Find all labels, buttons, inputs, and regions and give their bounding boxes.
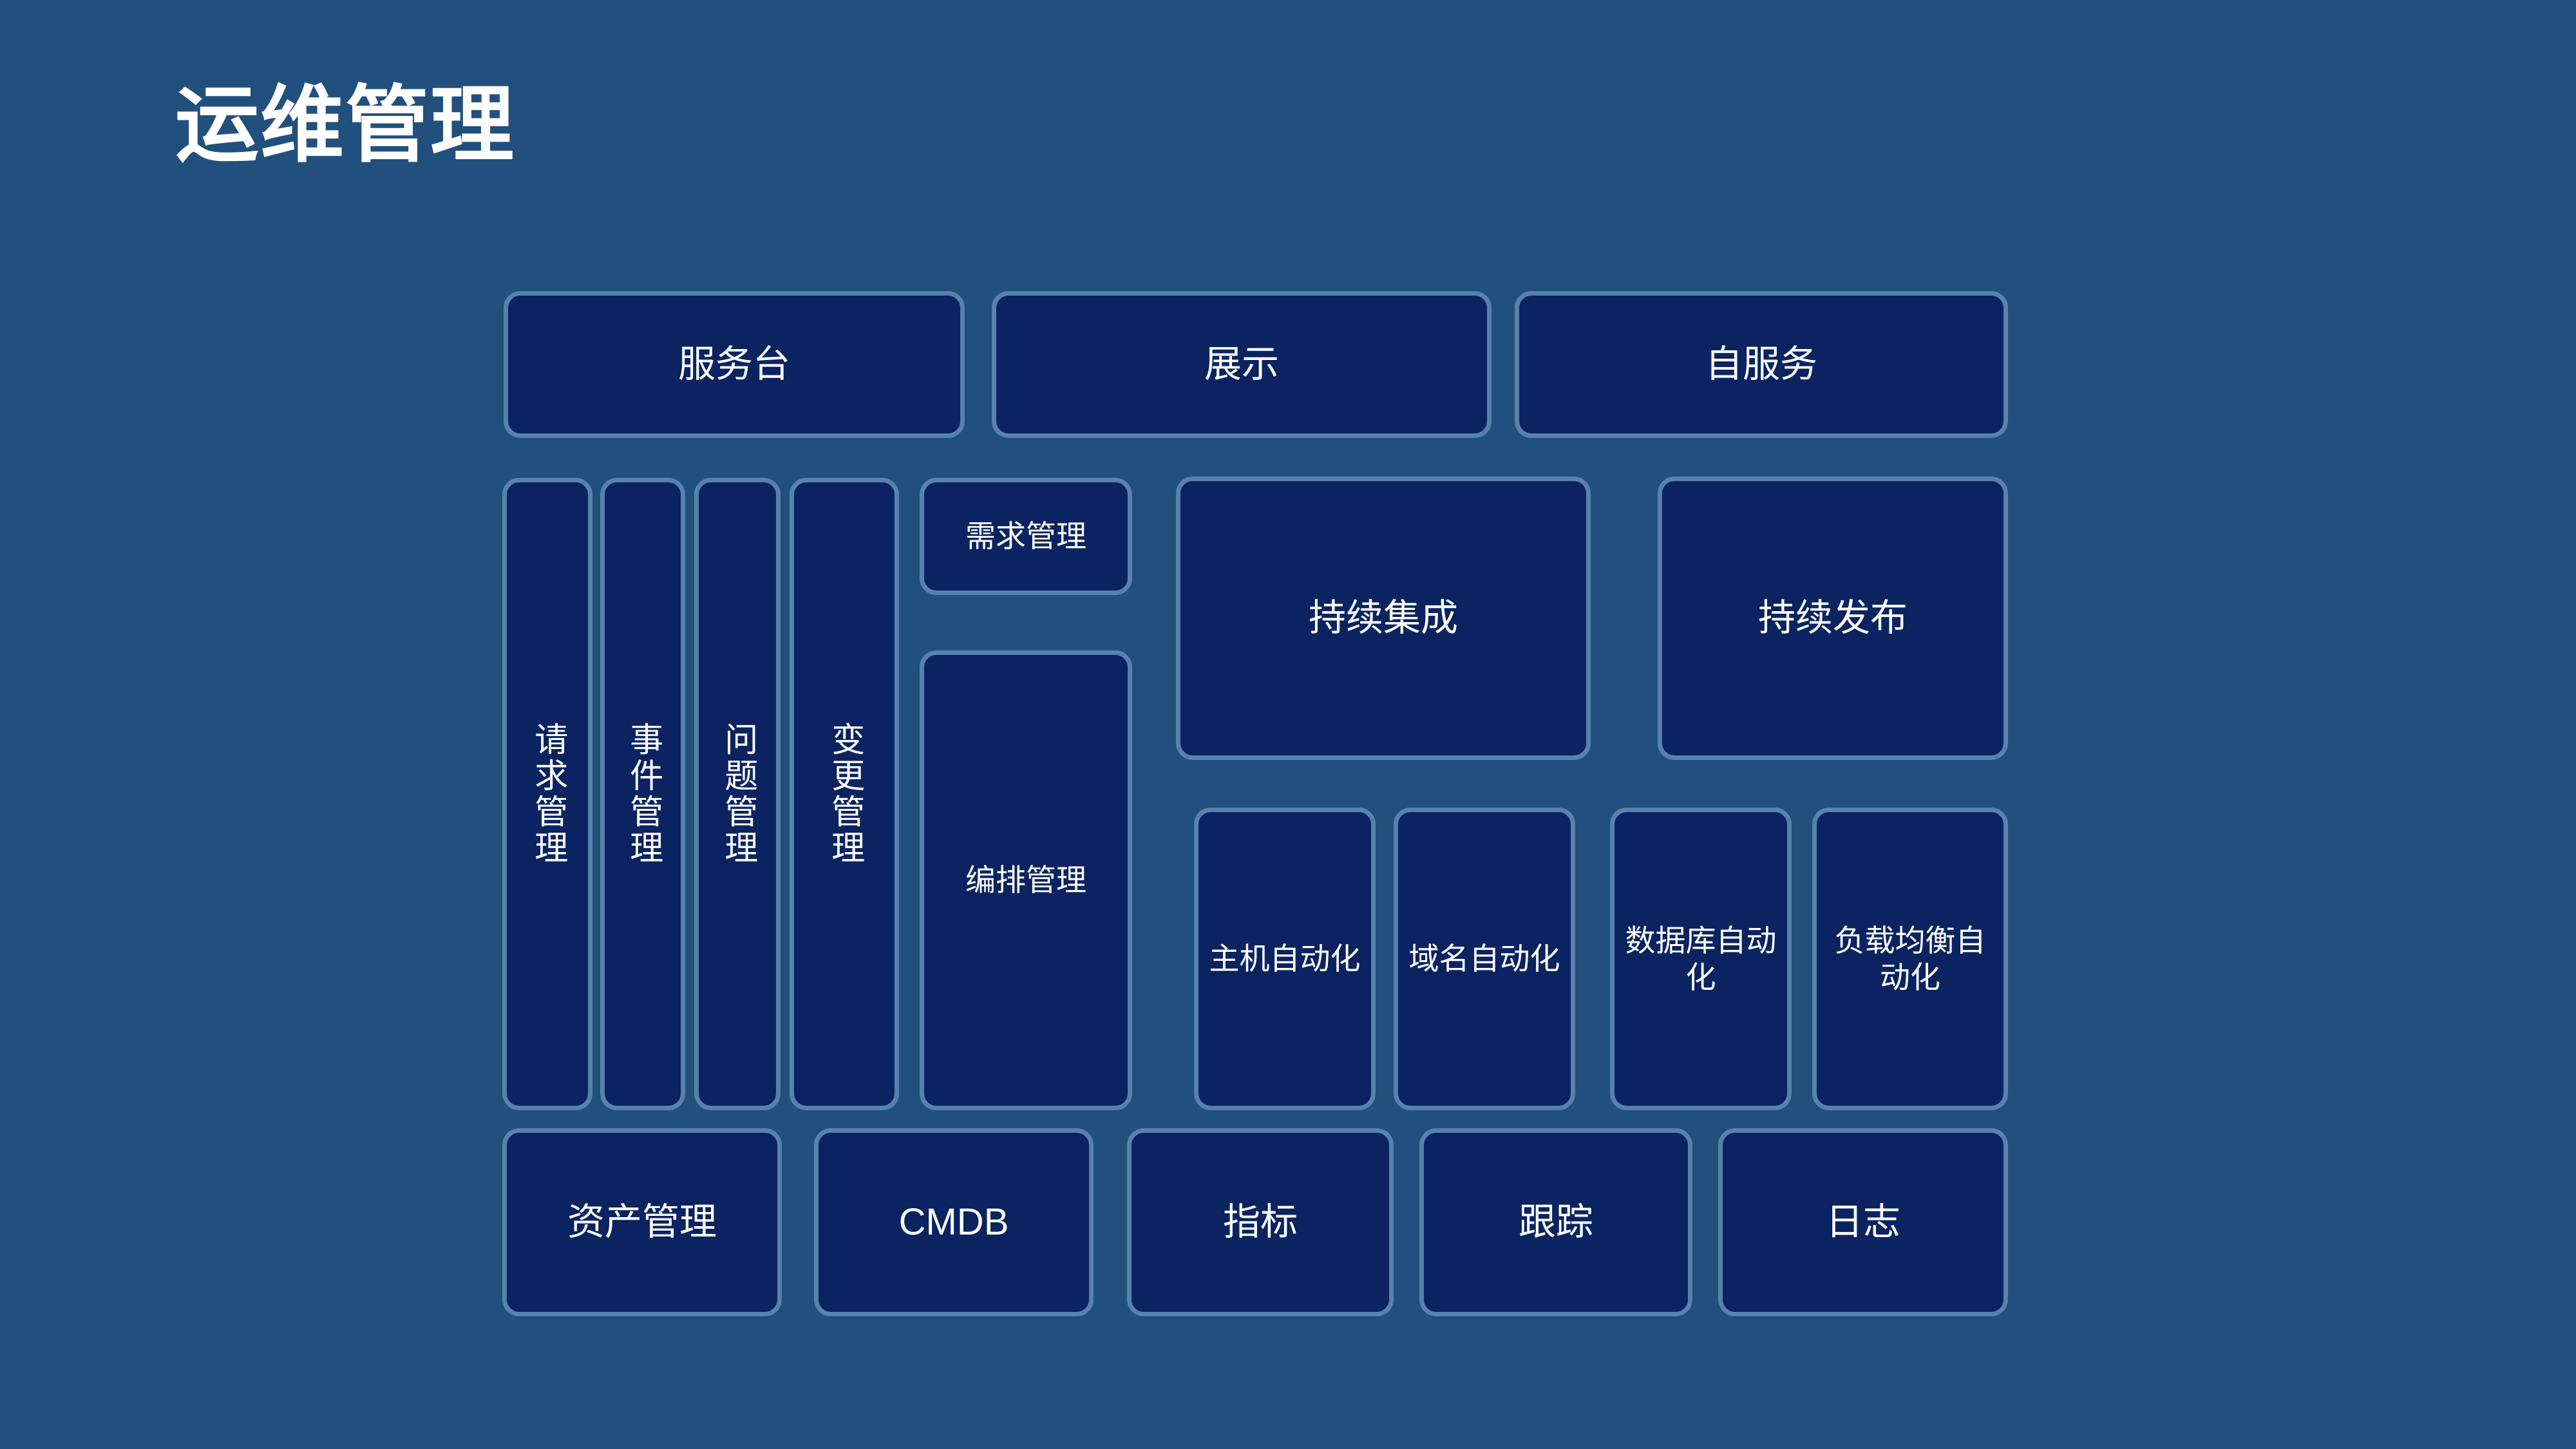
node-problem-management[interactable]: 问题管理 (694, 478, 781, 1110)
node-domain-automation[interactable]: 域名自动化 (1394, 808, 1575, 1110)
node-asset-management[interactable]: 资产管理 (502, 1128, 782, 1316)
node-label: 域名自动化 (1398, 940, 1571, 977)
node-demand-management[interactable]: 需求管理 (920, 478, 1132, 595)
node-label: 持续集成 (1180, 596, 1586, 641)
node-label: 问题管理 (717, 722, 757, 866)
node-label: 需求管理 (924, 518, 1128, 554)
node-label: 事件管理 (622, 722, 663, 866)
node-cmdb[interactable]: CMDB (814, 1128, 1094, 1316)
node-label: 自服务 (1519, 342, 2003, 388)
page-title: 运维管理 (175, 81, 515, 169)
node-tracing[interactable]: 跟踪 (1419, 1128, 1692, 1316)
node-continuous-delivery[interactable]: 持续发布 (1658, 477, 2008, 760)
node-label: CMDB (819, 1200, 1089, 1245)
node-label: 变更管理 (824, 722, 864, 866)
node-display[interactable]: 展示 (992, 291, 1492, 438)
node-continuous-integration[interactable]: 持续集成 (1176, 477, 1591, 760)
node-change-management[interactable]: 变更管理 (790, 478, 899, 1110)
node-metrics[interactable]: 指标 (1127, 1128, 1394, 1316)
node-label: 负载均衡自动化 (1817, 922, 2003, 996)
node-database-automation[interactable]: 数据库自动化 (1610, 808, 1792, 1110)
node-label: 请求管理 (527, 722, 567, 866)
node-self-service[interactable]: 自服务 (1515, 291, 2008, 438)
node-label: 数据库自动化 (1615, 922, 1787, 996)
node-label: 资产管理 (507, 1200, 777, 1245)
node-label: 服务台 (508, 342, 960, 388)
node-request-management[interactable]: 请求管理 (502, 478, 592, 1110)
node-label: 展示 (996, 342, 1487, 388)
node-label: 编排管理 (924, 862, 1128, 898)
node-incident-management[interactable]: 事件管理 (600, 478, 685, 1110)
node-label: 日志 (1723, 1200, 2003, 1245)
node-label: 跟踪 (1424, 1200, 1688, 1245)
node-label: 主机自动化 (1198, 940, 1371, 977)
node-label: 指标 (1132, 1200, 1389, 1245)
node-host-automation[interactable]: 主机自动化 (1194, 808, 1376, 1110)
slide-canvas: 运维管理 服务台 展示 自服务 请求管理 事件管理 问题管理 变更管理 需求管理… (0, 0, 2576, 1449)
node-service-desk[interactable]: 服务台 (504, 291, 965, 438)
node-logging[interactable]: 日志 (1718, 1128, 2008, 1316)
node-orchestration-management[interactable]: 编排管理 (920, 650, 1132, 1110)
node-label: 持续发布 (1662, 596, 2003, 641)
node-load-balancer-automation[interactable]: 负载均衡自动化 (1812, 808, 2008, 1110)
